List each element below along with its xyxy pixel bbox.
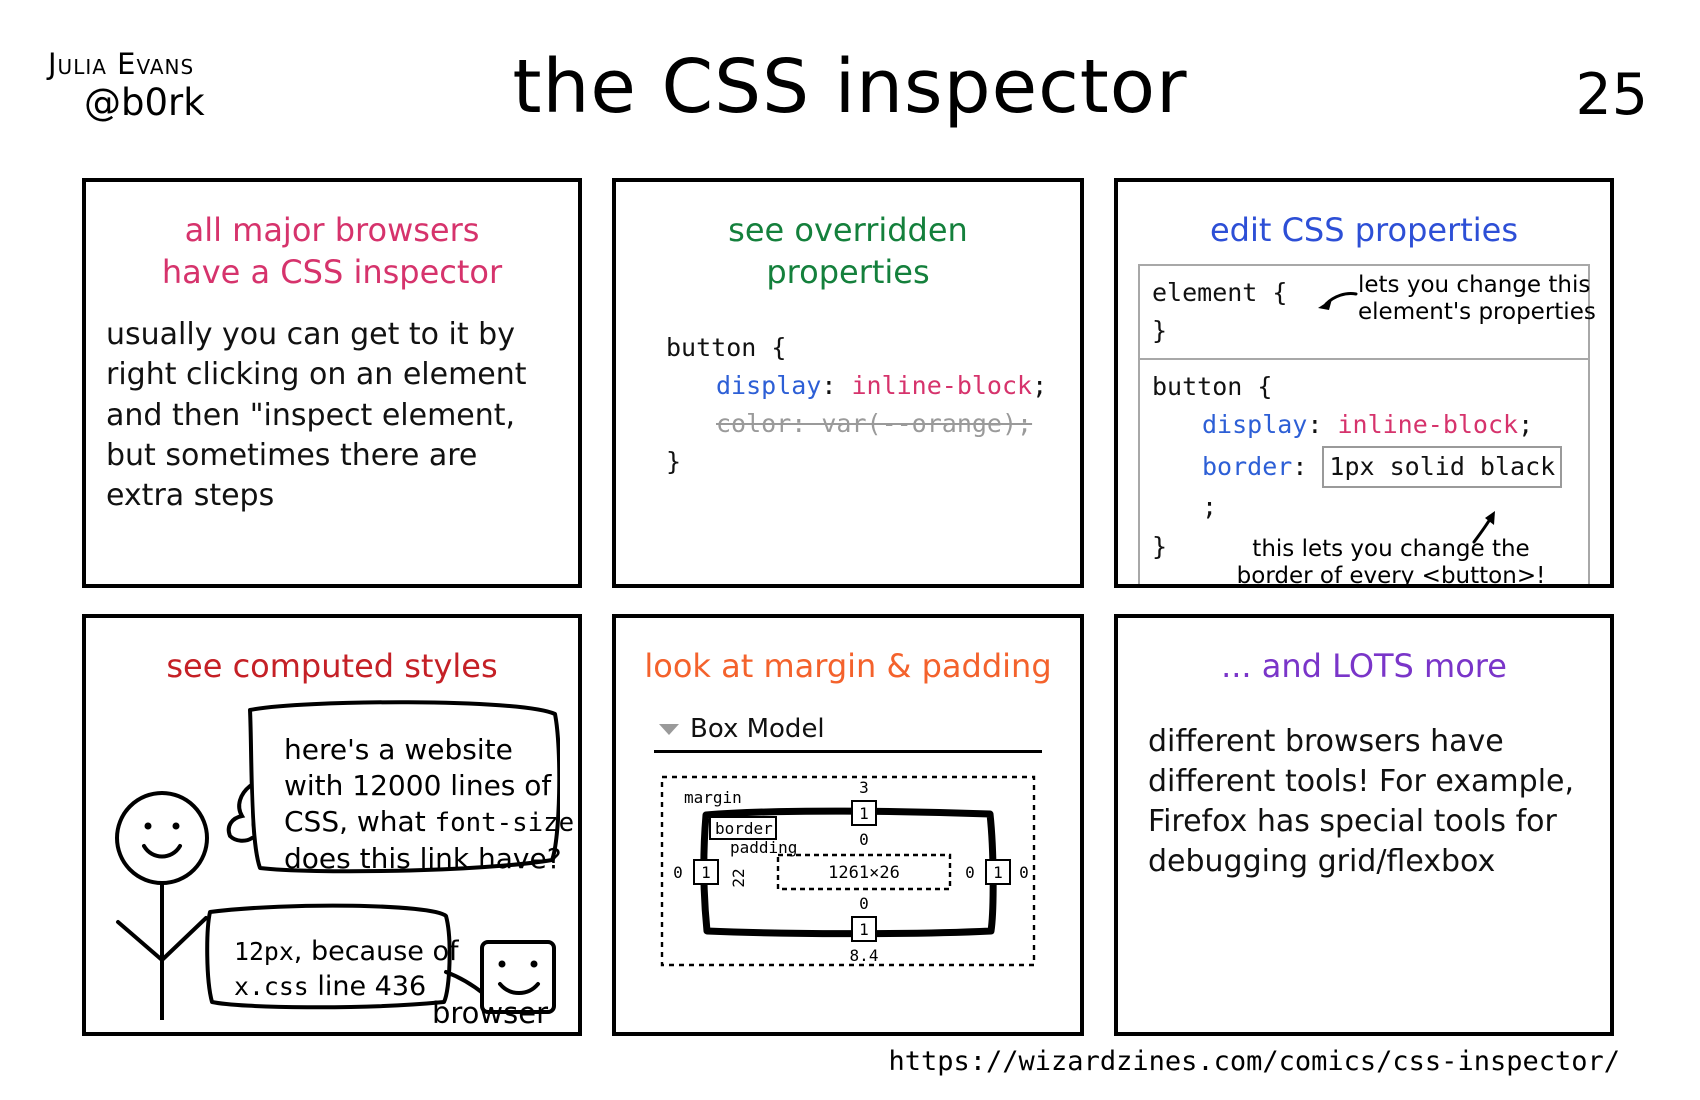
css-property-mention: font-size bbox=[435, 808, 575, 838]
css-inspector-widget[interactable]: element { } lets you change this element… bbox=[1138, 264, 1590, 588]
margin-right-value: 0 bbox=[1019, 863, 1029, 882]
panel-edit-css-properties: edit CSS properties element { } lets you… bbox=[1114, 178, 1614, 588]
padding-right-value: 0 bbox=[965, 863, 975, 882]
content-size-value: 1261×26 bbox=[828, 863, 900, 883]
label-border: border bbox=[715, 819, 773, 838]
callout-line1: lets you change this bbox=[1358, 272, 1614, 299]
code-declaration-display: display: inline-block; bbox=[666, 367, 1060, 405]
page-number: 25 bbox=[1575, 62, 1648, 128]
triangle-down-icon[interactable] bbox=[658, 721, 680, 737]
bubble2-line1-suffix: , because of bbox=[294, 936, 459, 967]
box-model-title: Box Model bbox=[690, 714, 825, 744]
css-property-value: inline-block bbox=[851, 371, 1032, 400]
border-value-input[interactable]: 1px solid black bbox=[1322, 446, 1562, 488]
panel4-scene: here's a website with 12000 lines of CSS… bbox=[106, 696, 558, 1026]
panel1-heading-line2: have a CSS inspector bbox=[106, 252, 558, 294]
panel-margin-padding: look at margin & padding Box Model m bbox=[612, 614, 1084, 1036]
browser-character-label: browser bbox=[432, 996, 548, 1030]
comic-page: Julia Evans @b0rk the CSS inspector 25 a… bbox=[0, 0, 1700, 1100]
button-declaration-border: border: 1px solid black; bbox=[1152, 446, 1576, 526]
panel5-heading: look at margin & padding bbox=[636, 646, 1060, 688]
arrow-left-icon bbox=[1316, 290, 1358, 316]
code-close-brace: } bbox=[666, 443, 1060, 481]
margin-bottom-value: 8.4 bbox=[850, 946, 879, 965]
inspector-note-border: this lets you change the border of every… bbox=[1206, 536, 1576, 588]
button-rule-open: button { bbox=[1152, 368, 1576, 406]
padding-left-value: 22 bbox=[729, 868, 748, 887]
code-selector: button { bbox=[666, 329, 1060, 367]
inspector-callout-element: lets you change this element's propertie… bbox=[1358, 272, 1614, 326]
source-url[interactable]: https://wizardzines.com/comics/css-inspe… bbox=[889, 1046, 1621, 1077]
speech-bubble-answer: 12px, because of x.css line 436 bbox=[234, 934, 514, 1004]
arrow-up-icon bbox=[1468, 510, 1498, 544]
bubble1-line3: CSS, what font-size bbox=[284, 804, 582, 840]
panel1-heading: all major browsers have a CSS inspector bbox=[106, 210, 558, 293]
bubble1-line2: with 12000 lines of bbox=[284, 768, 582, 804]
border-right-value: 1 bbox=[993, 863, 1003, 882]
border-bottom-value: 1 bbox=[859, 920, 869, 939]
bubble1-line1: here's a website bbox=[284, 732, 582, 768]
panel-grid: all major browsers have a CSS inspector … bbox=[82, 178, 1614, 1036]
panel2-heading-line2: properties bbox=[636, 252, 1060, 294]
inspector-rule-element[interactable]: element { } lets you change this element… bbox=[1140, 266, 1588, 358]
label-padding: padding bbox=[730, 838, 797, 857]
panel2-code-block: button { display: inline-block; color: v… bbox=[636, 329, 1060, 481]
inspector-rule-button[interactable]: button { display: inline-block; border: … bbox=[1140, 358, 1588, 588]
stylesheet-line-number: line 436 bbox=[309, 971, 426, 1002]
speech-bubble-question: here's a website with 12000 lines of CSS… bbox=[284, 732, 582, 878]
computed-value: 12px bbox=[234, 937, 294, 966]
margin-top-value: 3 bbox=[859, 778, 869, 797]
stylesheet-filename: x.css bbox=[234, 972, 309, 1001]
panel1-heading-line1: all major browsers bbox=[106, 210, 558, 252]
padding-top-value: 0 bbox=[859, 830, 869, 849]
bubble1-line3-prefix: CSS, what bbox=[284, 805, 435, 838]
page-title: the CSS inspector bbox=[0, 44, 1700, 130]
section-divider bbox=[654, 750, 1042, 753]
padding-bottom-value: 0 bbox=[859, 894, 869, 913]
panel1-body: usually you can get to it by right click… bbox=[106, 315, 558, 516]
panel6-body: different browsers have different tools!… bbox=[1138, 722, 1590, 883]
bubble2-line1: 12px, because of bbox=[234, 934, 514, 969]
panel4-heading: see computed styles bbox=[106, 646, 558, 688]
border-top-value: 1 bbox=[859, 804, 869, 823]
bubble1-line4: does this link have? bbox=[284, 841, 582, 877]
note-line2: border of every <button>! bbox=[1206, 563, 1576, 588]
panel-browsers-have-inspector: all major browsers have a CSS inspector … bbox=[82, 178, 582, 588]
css-property-name: display bbox=[1202, 410, 1307, 439]
css-property-value: inline-block bbox=[1337, 410, 1518, 439]
box-model-svg: margin border padding 1261×26 3 1 0 0 1 … bbox=[658, 771, 1038, 971]
css-property-name: display bbox=[716, 371, 821, 400]
panel-computed-styles: see computed styles bbox=[82, 614, 582, 1036]
box-model-diagram: margin border padding 1261×26 3 1 0 0 1 … bbox=[658, 771, 1038, 971]
panel6-heading: ... and LOTS more bbox=[1138, 646, 1590, 688]
callout-line2: element's properties bbox=[1358, 299, 1614, 326]
panel2-heading: see overridden properties bbox=[636, 210, 1060, 293]
note-line1: this lets you change the bbox=[1206, 536, 1576, 564]
margin-left-value: 0 bbox=[673, 863, 683, 882]
button-declaration-display: display: inline-block; bbox=[1152, 406, 1576, 444]
box-model-section-header[interactable]: Box Model bbox=[658, 714, 1060, 744]
border-left-value: 1 bbox=[701, 863, 711, 882]
css-property-name: border bbox=[1202, 452, 1292, 481]
panel-overridden-properties: see overridden properties button { displ… bbox=[612, 178, 1084, 588]
panel3-heading: edit CSS properties bbox=[1138, 210, 1590, 252]
label-margin: margin bbox=[684, 788, 742, 807]
panel2-heading-line1: see overridden bbox=[636, 210, 1060, 252]
panel-lots-more: ... and LOTS more different browsers hav… bbox=[1114, 614, 1614, 1036]
code-declaration-overridden: color: var(--orange); bbox=[666, 405, 1060, 443]
